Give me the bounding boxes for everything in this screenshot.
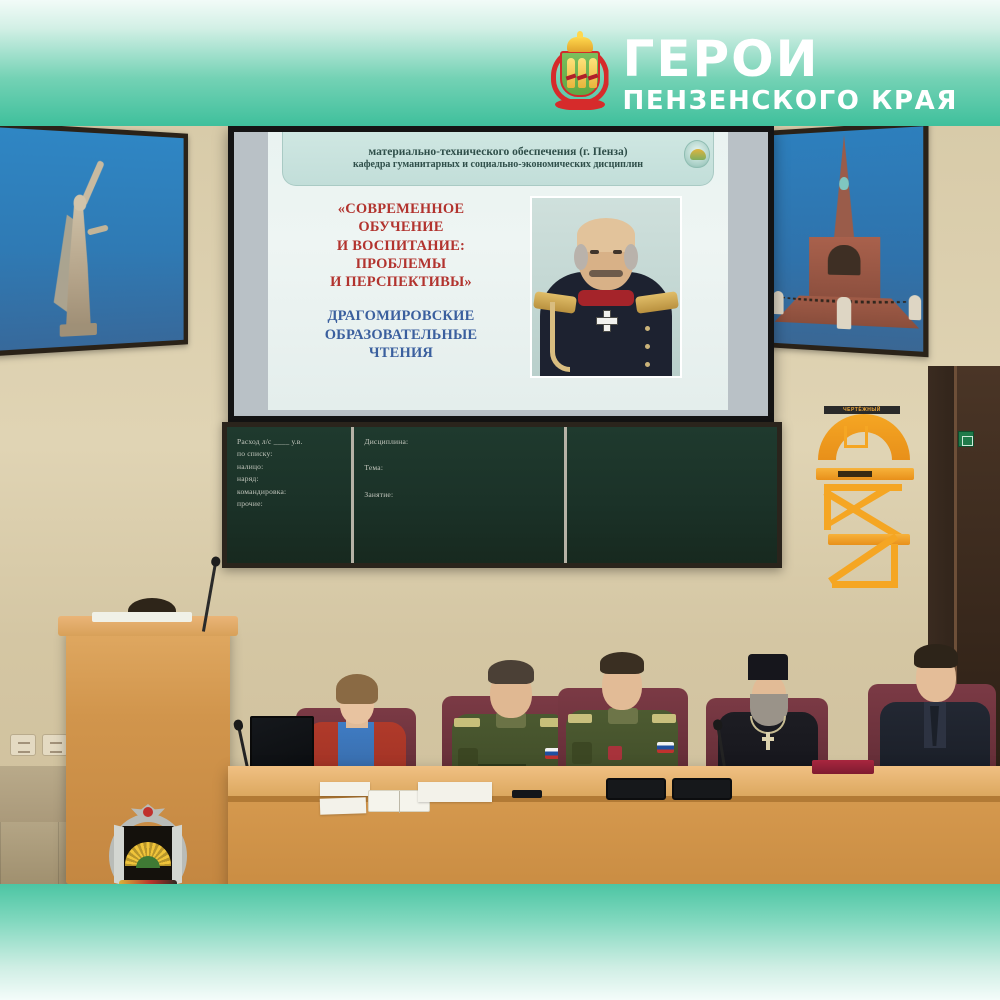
papers <box>418 782 492 802</box>
set-square-icon <box>824 484 902 530</box>
chalkboard: Расход л/с ____ у.в. по списку: налицо: … <box>222 422 782 568</box>
mobile-phone <box>512 790 542 798</box>
skufia-hat <box>748 654 788 680</box>
wheat-sheaf-icon <box>578 58 586 88</box>
pectoral-cross-icon <box>762 732 774 750</box>
chalk-line: Занятие: <box>364 489 554 501</box>
tools-label: ЧЕРТЁЖНЫЙ <box>824 406 900 414</box>
portrait-cross-medal-icon <box>596 310 616 330</box>
wheat-sheaf-icon <box>567 58 575 88</box>
slide-title-red: «СОВРЕМЕННОЕ ОБУЧЕНИЕ И ВОСПИТАНИЕ: ПРОБ… <box>330 200 472 291</box>
chain-post <box>773 291 784 315</box>
obelisk-tip <box>839 177 849 190</box>
chain-post <box>837 297 851 330</box>
podium-papers <box>92 612 192 622</box>
slide-body: «СОВРЕМЕННОЕ ОБУЧЕНИЕ И ВОСПИТАНИЕ: ПРОБ… <box>268 194 728 404</box>
slide-portrait-column <box>518 194 694 404</box>
hair <box>600 652 644 674</box>
penza-oblast-coat-of-arms-icon <box>549 35 611 113</box>
portrait-hair-right <box>624 244 638 270</box>
chalk-line: Дисциплина: <box>364 436 554 448</box>
collar <box>608 708 638 724</box>
granite-obelisk-monument-poster <box>767 126 929 357</box>
military-academy-emblem <box>105 804 191 884</box>
portrait-eye-left <box>590 250 599 254</box>
statue-extended-arm <box>87 225 109 236</box>
slide-title-blue: ДРАГОМИРОВСКИЕ ОБРАЗОВАТЕЛЬНЫЕ ЧТЕНИЯ <box>325 307 478 362</box>
statue-figure <box>50 159 105 335</box>
slide-header: материально-технического обеспечения (г.… <box>282 132 714 186</box>
poster-root: ГЕРОИ ПЕНЗЕНСКОГО КРАЯ <box>0 0 1000 1000</box>
power-socket <box>42 734 68 756</box>
chain-post <box>909 295 921 320</box>
statue-head <box>74 194 87 210</box>
shoulder-board <box>568 714 592 723</box>
red-folder <box>812 760 874 774</box>
statue-base <box>60 323 97 337</box>
portrait-hair-left <box>574 244 588 270</box>
screen-surface: материально-технического обеспечения (г.… <box>234 132 768 416</box>
hair <box>488 660 534 684</box>
coat-of-arms-shield <box>560 51 600 97</box>
hair <box>336 674 378 704</box>
portrait-moustache <box>589 270 623 277</box>
sleeve-patch <box>572 742 592 764</box>
slide-text-column: «СОВРЕМЕННОЕ ОБУЧЕНИЕ И ВОСПИТАНИЕ: ПРОБ… <box>268 194 518 404</box>
motherland-calls-statue-poster <box>0 126 188 356</box>
monitor-screen <box>250 716 314 768</box>
wheat-sheaf-icon <box>589 58 597 88</box>
portrait-button <box>645 362 650 367</box>
chalk-line: прочие: <box>237 498 341 510</box>
brand-wordmark: ГЕРОИ ПЕНЗЕНСКОГО КРАЯ <box>623 34 958 114</box>
speaking-podium <box>66 626 230 884</box>
ruler-icon <box>816 468 914 480</box>
shoulder-board <box>652 714 676 723</box>
chalkboard-panel-middle: Дисциплина: Тема: Занятие: <box>351 427 564 563</box>
shoulder-board <box>454 718 480 727</box>
chalkboard-surface: Расход л/с ____ у.в. по списку: налицо: … <box>227 427 777 563</box>
portrait-aiguillette <box>550 302 570 372</box>
event-photograph: материально-технического обеспечения (г.… <box>0 126 1000 884</box>
chalk-line: налицо: <box>237 461 341 473</box>
power-socket <box>10 734 36 756</box>
drafting-tools-display: ЧЕРТЁЖНЫЙ <box>810 406 920 596</box>
chalkboard-panel-right <box>564 427 777 563</box>
protractor-crossbar <box>844 426 868 448</box>
presentation-slide: материально-технического обеспечения (г.… <box>268 132 728 410</box>
slide-header-line-1: материально-технического обеспечения (г.… <box>368 145 627 159</box>
portrait-button <box>645 344 650 349</box>
portrait-eye-right <box>613 250 622 254</box>
academy-emblem-icon <box>684 140 710 168</box>
obelisk-plaque <box>828 245 861 275</box>
russian-flag-patch-icon <box>657 742 674 753</box>
coat-of-arms-ribbon <box>555 99 605 110</box>
crown-icon <box>567 37 593 52</box>
fire-exit-sign-icon <box>958 431 974 447</box>
chalk-line: Тема: <box>364 462 554 474</box>
hair <box>914 644 958 668</box>
brand-logo-lockup: ГЕРОИ ПЕНЗЕНСКОГО КРАЯ <box>549 34 958 114</box>
chalk-line: командировка: <box>237 486 341 498</box>
projector-screen: материально-технического обеспечения (г.… <box>228 126 774 422</box>
dragomirov-portrait <box>530 196 682 378</box>
medal-icon <box>608 746 622 760</box>
bottom-brand-band <box>0 884 1000 1000</box>
slide-header-line-2: кафедра гуманитарных и социально-экономи… <box>353 159 643 172</box>
set-square-icon <box>832 544 898 588</box>
portrait-red-collar <box>578 290 634 306</box>
wordmark-line-2: ПЕНЗЕНСКОГО КРАЯ <box>623 88 958 114</box>
chalk-line: по списку: <box>237 448 341 460</box>
papers <box>320 782 370 796</box>
chalk-line: Расход л/с ____ у.в. <box>237 436 341 448</box>
chalkboard-panel-left: Расход л/с ____ у.в. по списку: налицо: … <box>227 427 351 563</box>
wordmark-line-1: ГЕРОИ <box>623 34 958 84</box>
chalk-line: наряд: <box>237 473 341 485</box>
papers <box>320 797 367 815</box>
tablet-device <box>672 778 732 800</box>
portrait-button <box>645 326 650 331</box>
tablet-device <box>606 778 666 800</box>
